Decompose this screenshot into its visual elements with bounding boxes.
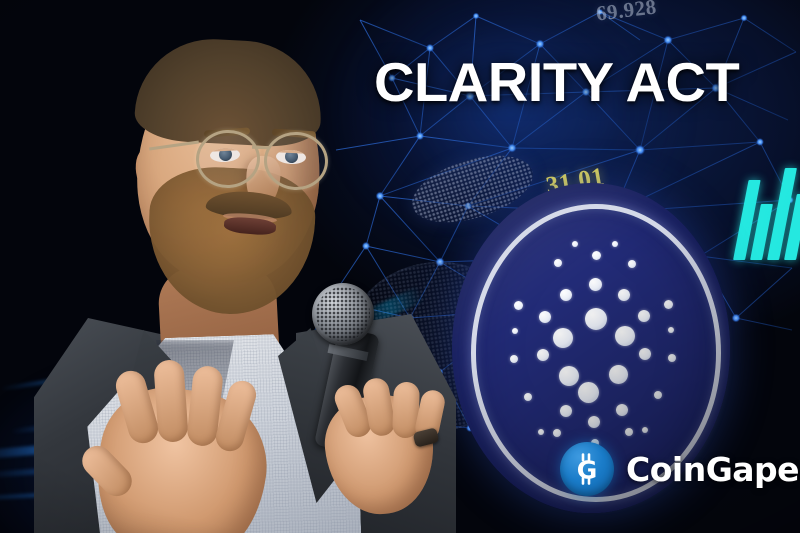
coingape-logo[interactable]: G CoinGape (560, 441, 799, 497)
finger (153, 359, 189, 443)
coingape-g-glyph: G (577, 456, 598, 485)
coingape-badge-icon: G (560, 442, 614, 496)
coingape-wordmark: CoinGape (626, 450, 799, 489)
news-thumbnail-image: 69.928 31.01 (0, 0, 800, 533)
microphone-head (312, 283, 374, 345)
speaker-photo (10, 18, 440, 533)
microphone-mesh (316, 287, 370, 341)
eyeglasses-bridge (252, 146, 268, 150)
